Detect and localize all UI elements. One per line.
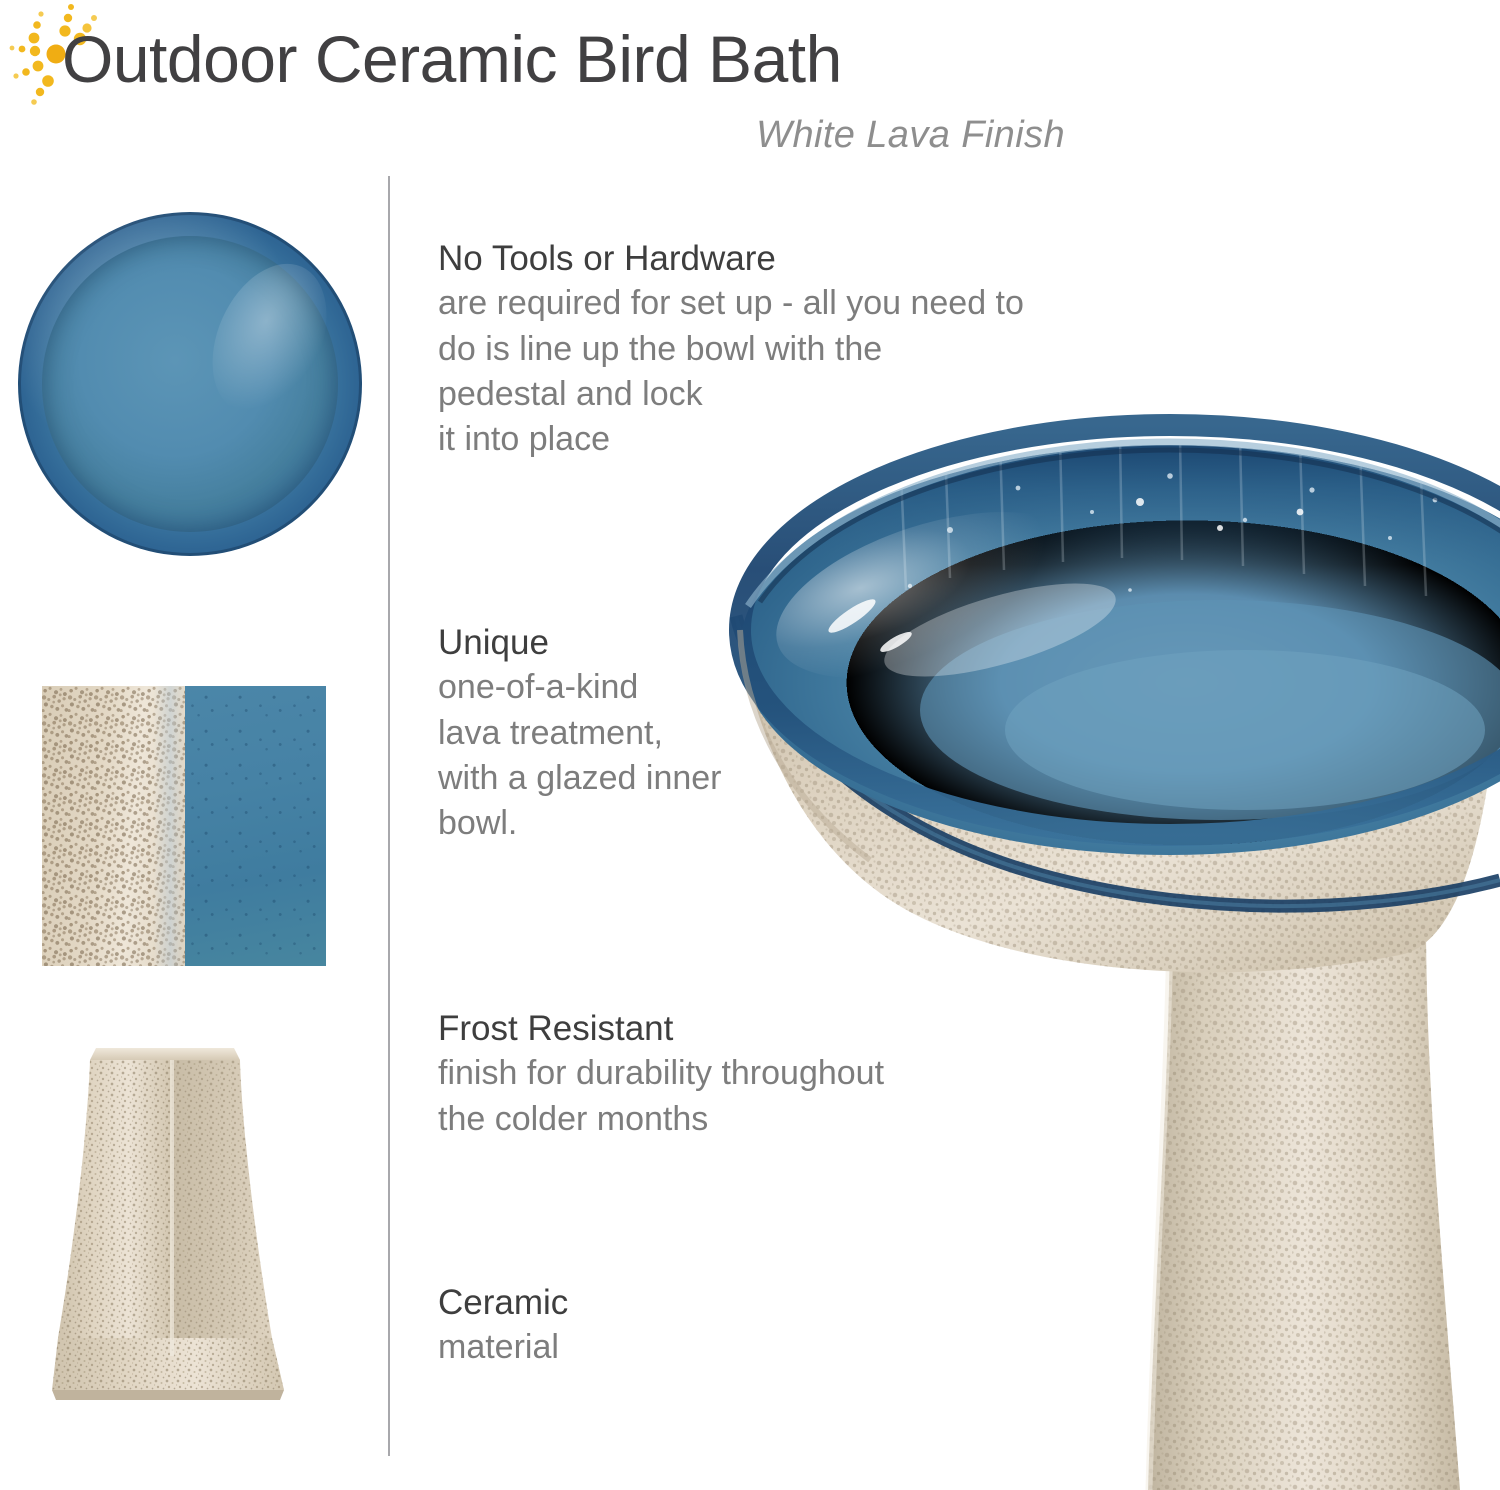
page-subtitle: White Lava Finish (0, 114, 1065, 157)
feature-ceramic: Ceramic material (438, 1282, 838, 1371)
feature-no-tools: No Tools or Hardware are required for se… (438, 238, 1228, 462)
feature-unique: Unique one-of-a-kind lava treatment, wit… (438, 622, 838, 846)
feature-frost-resistant: Frost Resistant finish for durability th… (438, 1008, 1078, 1142)
thumbnail-pedestal-base (44, 1038, 292, 1410)
feature-ceramic-body: material (438, 1325, 838, 1370)
header-banner: Outdoor Ceramic Bird Bath White Lava Fin… (0, 0, 1500, 176)
feature-ceramic-heading: Ceramic (438, 1282, 838, 1323)
pedestal-base-edge (52, 1390, 284, 1400)
feature-frost-resistant-body: finish for durability throughout the col… (438, 1051, 1078, 1141)
feature-no-tools-body: are required for set up - all you need t… (438, 281, 1228, 462)
feature-unique-heading: Unique (438, 622, 838, 663)
pedestal-top-rim (90, 1048, 240, 1060)
pedestal-front-texture (58, 1060, 172, 1356)
feature-frost-resistant-heading: Frost Resistant (438, 1008, 1078, 1049)
hero-pedestal-texture (1148, 910, 1460, 1490)
thumbnail-bowl-top-view (18, 212, 362, 556)
thumbnail-finish-texture-swatch (42, 686, 326, 966)
vertical-divider (388, 176, 390, 1456)
feature-unique-body: one-of-a-kind lava treatment, with a gla… (438, 665, 838, 846)
swatch-lava-half (42, 686, 185, 966)
pedestal-base-texture (52, 1338, 284, 1390)
feature-no-tools-heading: No Tools or Hardware (438, 238, 1228, 279)
swatch-glaze-half (185, 686, 326, 966)
pedestal-right-texture (172, 1060, 272, 1356)
page-title: Outdoor Ceramic Bird Bath (62, 26, 842, 92)
